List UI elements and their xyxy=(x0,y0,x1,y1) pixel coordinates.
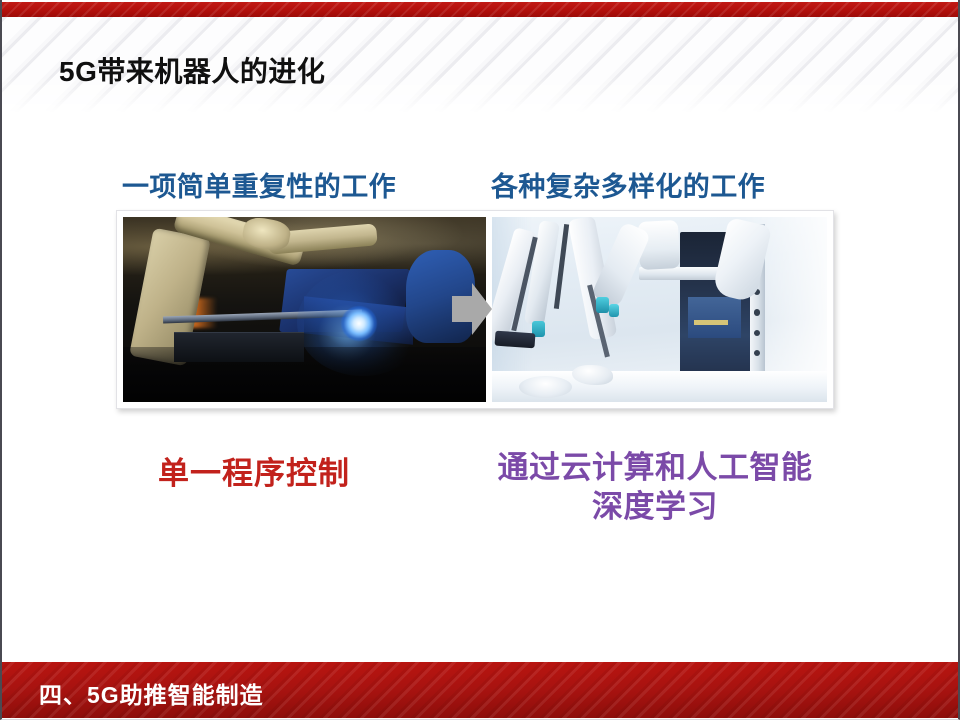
weld-spark xyxy=(341,306,377,341)
post-hole xyxy=(754,330,760,336)
caption-right: 各种复杂多样化的工作 xyxy=(491,165,765,204)
post-hole xyxy=(754,350,760,356)
flow-arrow-icon xyxy=(452,281,492,337)
footer-bar: 四、5G助推智能制造 xyxy=(2,662,960,718)
caption-row: 一项简单重复性的工作 各种复杂多样化的工作 xyxy=(2,165,960,205)
caption-left: 一项简单重复性的工作 xyxy=(122,165,396,204)
footer-section-title: 四、5G助推智能制造 xyxy=(39,676,264,710)
cabinet-screen xyxy=(688,297,741,338)
welding-scene xyxy=(123,217,486,402)
slide-top-edge xyxy=(2,0,960,2)
gripper xyxy=(495,330,536,348)
top-red-bar xyxy=(2,2,960,17)
result-right-label: 通过云计算和人工智能 深度学习 xyxy=(465,448,845,526)
slide: 5G带来机器人的进化 一项简单重复性的工作 各种复杂多样化的工作 xyxy=(0,0,960,720)
result-right-line1: 通过云计算和人工智能 xyxy=(498,450,813,485)
post-hole xyxy=(754,309,760,315)
work-table xyxy=(174,332,305,363)
photo-ai-robots xyxy=(492,217,827,402)
teal-joint xyxy=(596,297,609,314)
top-red-bar-stripes xyxy=(2,2,960,17)
result-left-label: 单一程序控制 xyxy=(158,448,350,493)
clean-room-scene xyxy=(492,217,827,402)
result-right-line2: 深度学习 xyxy=(465,487,845,526)
screen-label xyxy=(694,320,727,325)
photo-welding-robot xyxy=(123,217,486,402)
page-title: 5G带来机器人的进化 xyxy=(59,50,325,90)
slide-body: 一项简单重复性的工作 各种复杂多样化的工作 xyxy=(2,113,960,662)
teal-joint xyxy=(609,304,619,317)
